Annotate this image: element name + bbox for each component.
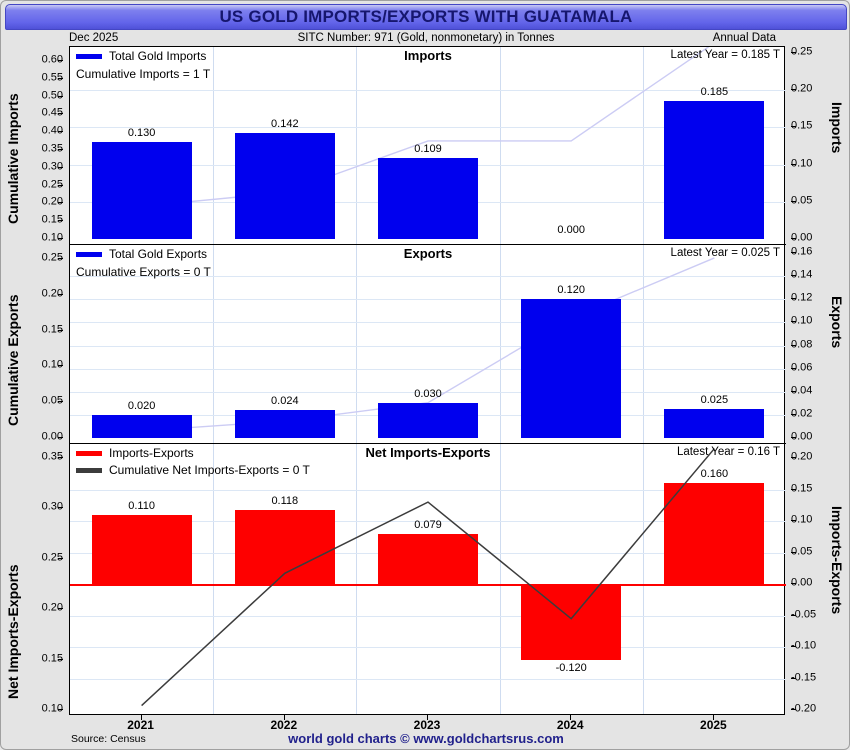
axis-tickmark xyxy=(791,414,796,415)
axis-tickmark xyxy=(58,131,63,132)
window-title: US GOLD IMPORTS/EXPORTS WITH GUATAMALA xyxy=(219,7,632,27)
panel-net-cumulative-line xyxy=(70,444,786,714)
bar-imports-2025 xyxy=(664,101,764,239)
axis-tickmark xyxy=(58,113,63,114)
panel-exports: 0.0200.0240.0300.1200.025 Exports Latest… xyxy=(70,245,786,444)
axis-tickmark xyxy=(791,391,796,392)
axis-tickmark xyxy=(791,252,796,253)
axis-tickmark xyxy=(58,457,63,458)
axis-tickmark xyxy=(791,520,796,521)
axis-title-exports: Exports xyxy=(829,296,845,382)
bar-value-label: 0.030 xyxy=(414,388,442,400)
left-axis-group: Cumulative Imports Cumulative Exports Ne… xyxy=(1,46,69,715)
axis-tickmark xyxy=(58,220,63,221)
chart-subtitle: SITC Number: 971 (Gold, nonmonetary) in … xyxy=(298,32,555,44)
axis-tickmark xyxy=(791,457,796,458)
axis-tickmark xyxy=(58,437,63,438)
axis-tickmark xyxy=(58,202,63,203)
axis-tickmark xyxy=(791,552,796,553)
chart-plot-area: 0.1300.1420.1090.0000.185 Imports Latest… xyxy=(69,46,785,715)
axis-tickmark xyxy=(58,659,63,660)
bar-exports-2021 xyxy=(92,415,192,438)
right-axis-group: Imports Exports Imports-Exports 0.250.20… xyxy=(785,46,850,715)
axis-tickmark xyxy=(58,258,63,259)
axis-tickmark xyxy=(58,185,63,186)
axis-tickmark xyxy=(791,238,796,239)
watermark-label: world gold charts © www.goldchartsrus.co… xyxy=(288,731,564,746)
chart-window: US GOLD IMPORTS/EXPORTS WITH GUATAMALA D… xyxy=(0,0,850,750)
axis-tickmark xyxy=(791,489,796,490)
panel-imports: 0.1300.1420.1090.0000.185 Imports Latest… xyxy=(70,47,786,245)
bar-value-label: 0.025 xyxy=(701,394,729,406)
axis-tickmark xyxy=(791,437,796,438)
axis-title-imports: Imports xyxy=(829,102,845,188)
axis-tickmark xyxy=(58,238,63,239)
axis-tickmark xyxy=(791,368,796,369)
axis-tickmark xyxy=(58,608,63,609)
axis-tickmark xyxy=(58,149,63,150)
chart-footer: Source: Census world gold charts © www.g… xyxy=(1,733,850,749)
axis-tickmark xyxy=(58,167,63,168)
axis-tickmark xyxy=(791,298,796,299)
panel-imports-bars: 0.1300.1420.1090.0000.185 xyxy=(70,47,786,244)
bar-value-label: 0.024 xyxy=(271,395,299,407)
x-axis-label-2023: 2023 xyxy=(414,718,441,732)
bar-value-label: 0.142 xyxy=(271,118,299,130)
axis-title-net-imports-exports: Net Imports-Exports xyxy=(5,514,21,699)
bar-exports-2022 xyxy=(235,410,335,438)
chart-subheader: Dec 2025 SITC Number: 971 (Gold, nonmone… xyxy=(1,32,850,46)
x-axis-label-2021: 2021 xyxy=(127,718,154,732)
axis-tickmark xyxy=(791,709,796,710)
panel-exports-bars: 0.0200.0240.0300.1200.025 xyxy=(70,245,786,443)
window-titlebar: US GOLD IMPORTS/EXPORTS WITH GUATAMALA xyxy=(5,4,847,30)
axis-tickmark xyxy=(791,201,796,202)
axis-tickmark xyxy=(791,321,796,322)
bar-imports-2021 xyxy=(92,142,192,239)
axis-tickmark xyxy=(58,558,63,559)
axis-tickmark xyxy=(791,646,796,647)
bar-exports-2023 xyxy=(378,403,478,438)
axis-title-imports-exports: Imports-Exports xyxy=(829,506,845,666)
axis-tickmark xyxy=(58,507,63,508)
axis-tickmark xyxy=(791,126,796,127)
axis-tickmark xyxy=(791,275,796,276)
bar-value-label: 0.130 xyxy=(128,127,156,139)
bar-exports-2025 xyxy=(664,409,764,438)
axis-tickmark xyxy=(58,60,63,61)
axis-title-cumulative-imports: Cumulative Imports xyxy=(5,64,21,224)
x-axis-label-2024: 2024 xyxy=(557,718,584,732)
axis-tickmark xyxy=(58,78,63,79)
x-axis-label-2025: 2025 xyxy=(700,718,727,732)
axis-tickmark xyxy=(58,294,63,295)
panel-net: 0.1100.1180.079-0.1200.160 Net Imports-E… xyxy=(70,444,786,714)
data-frequency: Annual Data xyxy=(713,32,776,44)
axis-tickmark xyxy=(58,401,63,402)
source-label: Source: Census xyxy=(71,733,146,745)
bar-value-label: 0.109 xyxy=(414,143,442,155)
axis-tickmark xyxy=(58,330,63,331)
bar-imports-2022 xyxy=(235,133,335,239)
axis-tickmark xyxy=(791,345,796,346)
bar-exports-2024 xyxy=(521,299,621,438)
bar-value-label: 0.000 xyxy=(557,224,585,236)
axis-tickmark xyxy=(58,365,63,366)
bar-value-label: 0.020 xyxy=(128,400,156,412)
bar-value-label: 0.120 xyxy=(557,284,585,296)
axis-title-cumulative-exports: Cumulative Exports xyxy=(5,261,21,426)
axis-tickmark xyxy=(791,164,796,165)
axis-tickmark xyxy=(58,96,63,97)
axis-tickmark xyxy=(791,52,796,53)
axis-tickmark xyxy=(791,615,796,616)
axis-tickmark xyxy=(791,583,796,584)
axis-tickmark xyxy=(791,678,796,679)
bar-imports-2023 xyxy=(378,158,478,239)
x-axis-label-2022: 2022 xyxy=(270,718,297,732)
axis-tickmark xyxy=(791,89,796,90)
report-date: Dec 2025 xyxy=(69,32,118,44)
bar-value-label: 0.185 xyxy=(701,86,729,98)
axis-tickmark xyxy=(58,709,63,710)
